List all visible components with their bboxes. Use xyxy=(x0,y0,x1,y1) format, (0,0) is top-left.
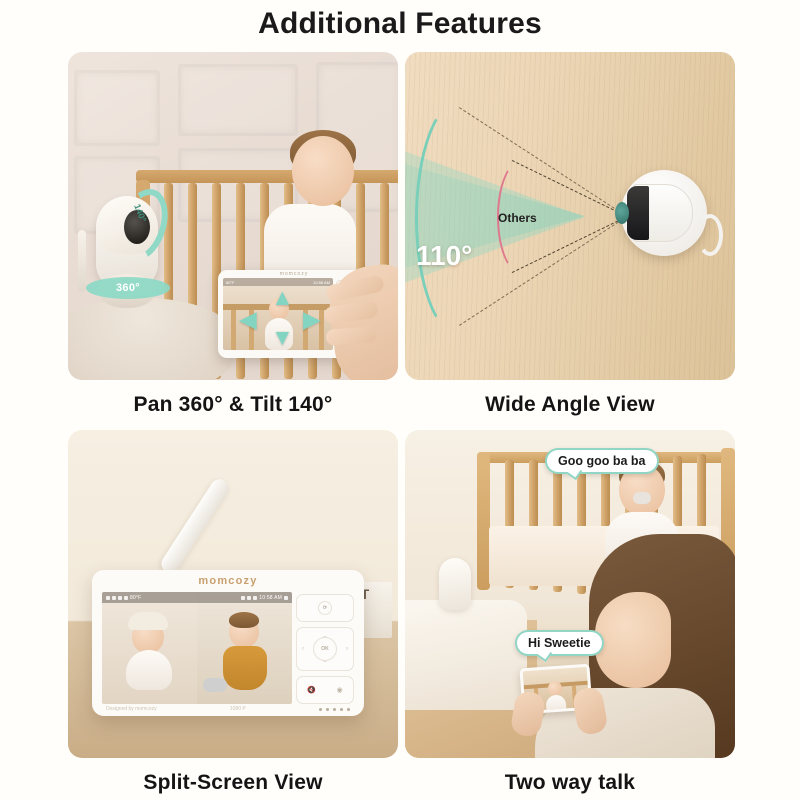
split-screen-monitor: momcozy 80°F xyxy=(92,570,364,716)
led-indicator xyxy=(326,708,329,711)
two-way-talk-photo: Goo goo ba ba Hi Sweetie xyxy=(405,430,735,758)
led-indicator xyxy=(333,708,336,711)
pan-arrow-right-icon: ▶ xyxy=(303,308,321,331)
wall-molding-panel xyxy=(74,70,160,146)
split-screen-photo: ALT momcozy 80°F xyxy=(68,430,398,758)
dpad-ok-button[interactable]: OK xyxy=(313,637,337,661)
monitor-screen: 80°F 10:58 AM ▲ ▼ ◀ ▶ xyxy=(223,278,333,350)
wifi-icon xyxy=(112,596,116,600)
status-left-icons: 80°F xyxy=(106,595,141,601)
monitor-button-cluster: ⟳ ︿ ﹀ ‹ › OK 🔇 ◉ xyxy=(296,594,354,709)
baby-overalls xyxy=(223,646,267,690)
status-right-icons: 10:58 AM xyxy=(241,595,288,601)
dpad-right-icon[interactable]: › xyxy=(346,646,348,652)
monitor-status-bar: 80°F 10:58 AM xyxy=(102,592,292,603)
pan-arrow-up-icon: ▲ xyxy=(271,286,294,309)
camera-top-view-lens xyxy=(627,186,649,240)
resolution-label: 1080 P xyxy=(230,706,246,712)
designed-by-label: Designed by momcozy xyxy=(106,706,157,712)
feature-card-pan-tilt: 140° 360° momcozy 80°F 10:58 AM xyxy=(68,52,398,417)
feature-caption-split-screen: Split-Screen View xyxy=(68,771,398,795)
screen-crib-bar xyxy=(231,310,236,350)
volume-icon xyxy=(247,596,251,600)
sd-card-icon xyxy=(253,596,257,600)
feature-grid-page: Additional Features xyxy=(0,0,800,800)
pan-tilt-photo: 140° 360° momcozy 80°F 10:58 AM xyxy=(68,52,398,380)
side-table xyxy=(68,298,234,380)
feature-card-wide-angle: 110° Others Wide Angle View xyxy=(405,52,735,417)
led-indicator xyxy=(340,708,343,711)
others-angle-label: Others xyxy=(498,211,537,225)
split-feed-left[interactable] xyxy=(102,592,197,704)
monitor-brand-label: momcozy xyxy=(92,575,364,587)
monitor-footer: Designed by momcozy 1080 P xyxy=(92,706,364,712)
pan-ring-indicator: 360° xyxy=(86,277,170,299)
pan-arrow-left-icon: ◀ xyxy=(239,308,257,331)
wide-angle-photo: 110° Others xyxy=(405,52,735,380)
power-icon: ⟳ xyxy=(318,601,332,615)
camera-power-cable xyxy=(697,214,723,256)
camera-device xyxy=(439,558,471,610)
pacifier xyxy=(633,492,651,504)
dpad-left-icon[interactable]: ‹ xyxy=(302,646,304,652)
crib-top-rail xyxy=(136,170,398,183)
camera-antenna xyxy=(78,230,86,292)
wide-angle-arc xyxy=(415,98,507,338)
feature-card-split-screen: ALT momcozy 80°F xyxy=(68,430,398,795)
status-temperature: 80°F xyxy=(226,280,235,285)
feature-caption-wide-angle: Wide Angle View xyxy=(405,393,735,417)
baby-body xyxy=(126,650,172,690)
dresser xyxy=(405,600,527,710)
wall-molding-panel xyxy=(178,64,298,136)
status-time: 10:58 AM xyxy=(259,595,282,601)
status-temperature: 80°F xyxy=(130,595,141,601)
baby-hair xyxy=(229,612,259,628)
mute-icon[interactable]: 🔇 xyxy=(307,686,316,694)
feature-caption-pan-tilt: Pan 360° & Tilt 140° xyxy=(68,393,398,417)
monitor-dpad[interactable]: ︿ ﹀ ‹ › OK xyxy=(296,627,354,671)
monitor-function-buttons[interactable]: 🔇 ◉ xyxy=(296,676,354,704)
monitor-power-button[interactable]: ⟳ xyxy=(296,594,354,622)
led-indicator-row xyxy=(319,708,350,711)
wide-angle-label: 110° xyxy=(416,240,472,272)
pan-angle-label: 360° xyxy=(116,282,140,294)
alarm-icon xyxy=(241,596,245,600)
feature-card-two-way-talk: Goo goo ba ba Hi Sweetie Two way talk xyxy=(405,430,735,795)
feature-caption-two-way-talk: Two way talk xyxy=(405,771,735,795)
camera-lens-highlight xyxy=(615,202,629,224)
feature-grid: 140° 360° momcozy 80°F 10:58 AM xyxy=(68,52,735,792)
screen-baby-body xyxy=(545,694,566,711)
battery-icon xyxy=(284,596,288,600)
split-feed-right[interactable] xyxy=(197,592,292,704)
signal-icon xyxy=(106,596,110,600)
toy-bunny xyxy=(203,678,227,692)
baby-hat xyxy=(128,612,168,630)
page-title: Additional Features xyxy=(0,0,800,44)
pan-arrow-down-icon: ▼ xyxy=(271,326,294,349)
camera-icon xyxy=(118,596,122,600)
led-indicator xyxy=(347,708,350,711)
thermometer-icon xyxy=(124,596,128,600)
capture-icon[interactable]: ◉ xyxy=(337,686,343,694)
speech-bubble-baby: Goo goo ba ba xyxy=(545,448,659,474)
led-indicator xyxy=(319,708,322,711)
status-time: 10:58 AM xyxy=(313,280,330,285)
speech-bubble-parent: Hi Sweetie xyxy=(515,630,604,656)
baby-head xyxy=(292,136,354,206)
woman-face xyxy=(595,592,671,688)
monitor-screen: 80°F 10:58 AM xyxy=(102,592,292,704)
